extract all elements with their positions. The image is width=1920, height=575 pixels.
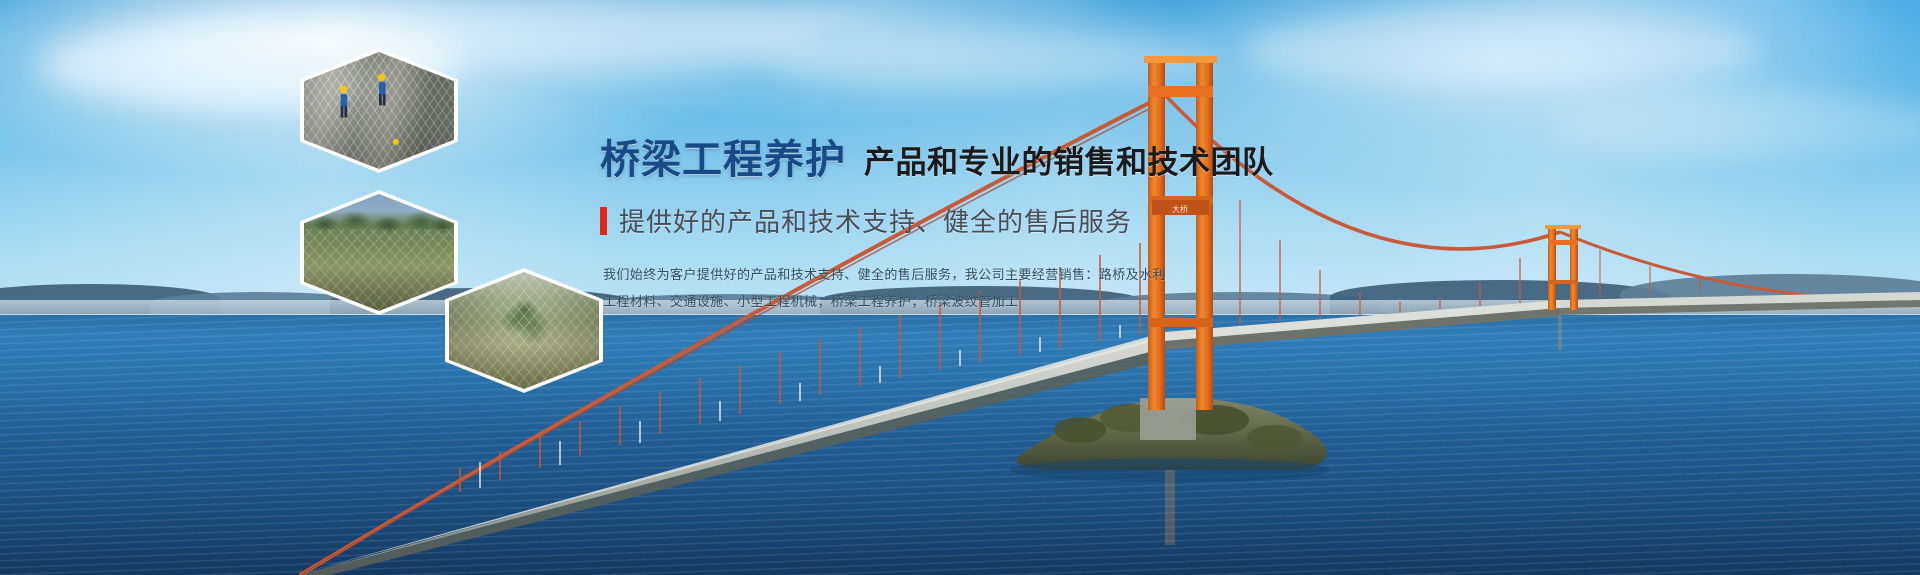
- subtitle-text: 提供好的产品和技术支持、健全的售后服务: [619, 202, 1132, 239]
- headline-row: 桥梁工程养护 产品和专业的销售和技术团队: [600, 140, 1360, 180]
- banner-copy: 桥梁工程养护 产品和专业的销售和技术团队 提供好的产品和技术支持、健全的售后服务…: [600, 140, 1360, 318]
- body-paragraph: 我们始终为客户提供好的产品和技术支持、健全的售后服务，我公司主要经营销售：路桥及…: [603, 265, 1360, 311]
- thumbnail-dry-slope-shrub-mesh[interactable]: [445, 268, 603, 393]
- hero-banner: 大桥: [0, 0, 1920, 575]
- bridge-tower-far: [1545, 225, 1581, 310]
- headline-main: 桥梁工程养护: [600, 140, 846, 180]
- thumbnail-green-hillside-mesh[interactable]: [300, 190, 458, 315]
- body-line-1: 我们始终为客户提供好的产品和技术支持、健全的售后服务，我公司主要经营销售：路桥及…: [603, 265, 1360, 285]
- headline-secondary: 产品和专业的销售和技术团队: [864, 147, 1274, 178]
- subtitle-row: 提供好的产品和技术支持、健全的售后服务: [600, 202, 1360, 239]
- red-accent-bar: [600, 207, 607, 235]
- body-line-2: 工程材料、交通设施、小型工程机械；桥梁工程养护；桥梁波纹管加工: [603, 292, 1360, 312]
- thumbnail-rock-slope-mesh-workers[interactable]: [300, 48, 458, 173]
- hexagon-thumbnail-group: [295, 40, 595, 420]
